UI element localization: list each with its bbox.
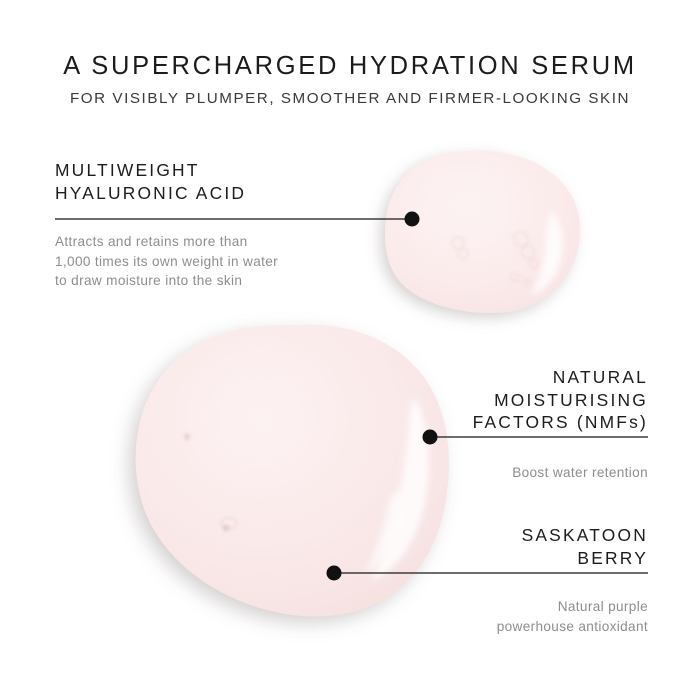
callout-nmf-heading: NATURAL MOISTURISING FACTORS (NMFs) xyxy=(473,366,648,434)
header: A SUPERCHARGED HYDRATION SERUM FOR VISIB… xyxy=(0,52,700,108)
callout-saskatoon-heading: SASKATOON BERRY xyxy=(497,524,648,569)
callout-saskatoon: SASKATOON BERRY Natural purple powerhous… xyxy=(497,524,648,636)
body-line: powerhouse antioxidant xyxy=(497,617,648,636)
callout-hyaluronic: MULTIWEIGHT HYALURONIC ACID Attracts and… xyxy=(55,159,278,290)
heading-line: SASKATOON xyxy=(497,524,648,547)
body-line: Natural purple xyxy=(497,597,648,616)
body-line: 1,000 times its own weight in water xyxy=(55,252,278,271)
large-serum-drop xyxy=(136,325,449,617)
callout-hyaluronic-body: Attracts and retains more than 1,000 tim… xyxy=(55,232,278,290)
page-subtitle: FOR VISIBLY PLUMPER, SMOOTHER AND FIRMER… xyxy=(0,90,700,107)
small-serum-drop xyxy=(385,151,580,313)
callout-saskatoon-body: Natural purple powerhouse antioxidant xyxy=(497,597,648,636)
callout-nmf: NATURAL MOISTURISING FACTORS (NMFs) Boos… xyxy=(473,366,648,482)
heading-line: BERRY xyxy=(497,547,648,570)
callout-hyaluronic-heading: MULTIWEIGHT HYALURONIC ACID xyxy=(55,159,278,204)
heading-line: MOISTURISING xyxy=(473,389,648,412)
heading-line: MULTIWEIGHT xyxy=(55,159,278,182)
callout-nmf-body: Boost water retention xyxy=(473,463,648,482)
infographic-page: A SUPERCHARGED HYDRATION SERUM FOR VISIB… xyxy=(0,0,700,700)
body-line: to draw moisture into the skin xyxy=(55,271,278,290)
heading-line: HYALURONIC ACID xyxy=(55,182,278,205)
body-line: Attracts and retains more than xyxy=(55,232,278,251)
body-line: Boost water retention xyxy=(473,463,648,482)
heading-line: FACTORS (NMFs) xyxy=(473,411,648,434)
heading-line: NATURAL xyxy=(473,366,648,389)
page-title: A SUPERCHARGED HYDRATION SERUM xyxy=(0,52,700,81)
